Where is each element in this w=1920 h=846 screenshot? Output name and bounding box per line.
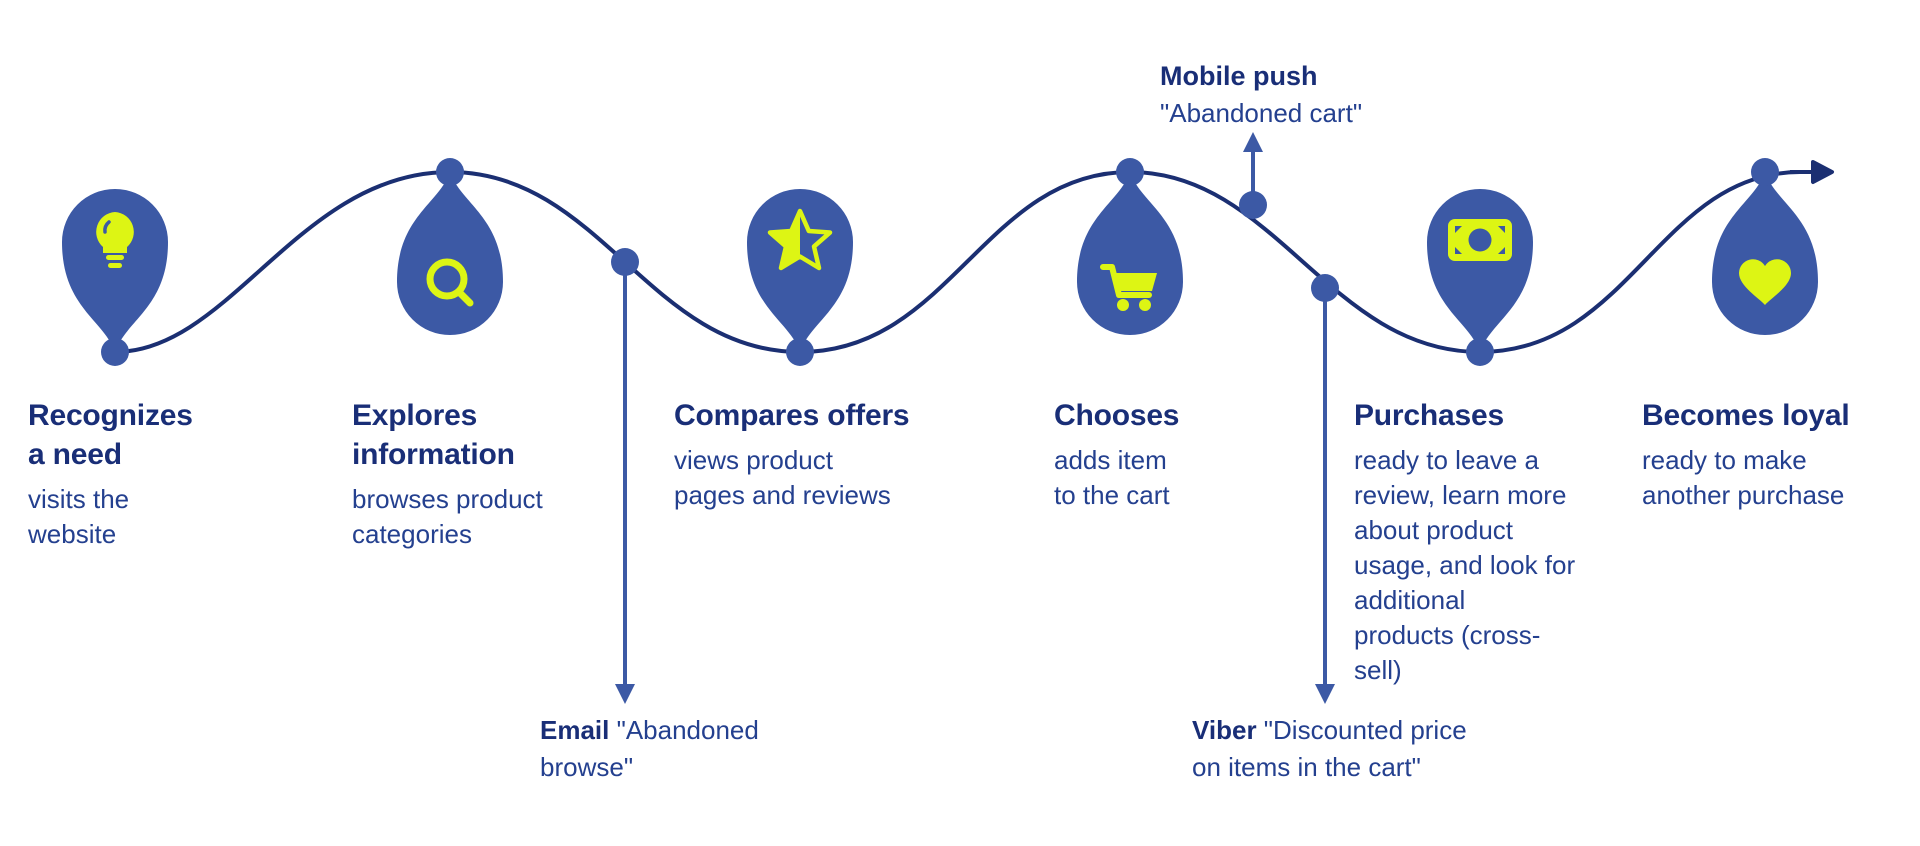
- customer-journey-diagram: Recognizes a need visits the website Exp…: [0, 0, 1920, 846]
- stage-title: Compares offers: [674, 396, 964, 435]
- stage-title: Recognizes a need: [28, 396, 258, 474]
- stage-label-explores-information: Explores information browses product cat…: [352, 396, 602, 552]
- annotation-channel-label: Viber: [1192, 715, 1257, 745]
- stage-pin-explores-information[interactable]: [397, 172, 503, 335]
- annotation-message-line2: on items in the cart": [1192, 752, 1421, 782]
- stage-pin-chooses[interactable]: [1077, 172, 1183, 335]
- stage-label-purchases: Purchases ready to leave a review, learn…: [1354, 396, 1634, 688]
- annotation-email: Email "Abandonedbrowse": [540, 712, 870, 786]
- annotation-connector-viber: [1315, 288, 1335, 704]
- annotation-message: "Discounted price: [1257, 715, 1467, 745]
- node-dot[interactable]: [1466, 338, 1494, 366]
- stage-title: Explores information: [352, 396, 602, 474]
- node-dot[interactable]: [1116, 158, 1144, 186]
- stage-label-recognizes-a-need: Recognizes a need visits the website: [28, 396, 258, 552]
- node-dot[interactable]: [436, 158, 464, 186]
- arrow-down-icon: [1315, 684, 1335, 704]
- stage-title: Purchases: [1354, 396, 1634, 435]
- node-dot[interactable]: [101, 338, 129, 366]
- stage-pin-purchases[interactable]: [1427, 189, 1533, 352]
- arrow-up-icon: [1243, 132, 1263, 152]
- stage-description: adds item to the cart: [1054, 443, 1254, 513]
- node-dot[interactable]: [786, 338, 814, 366]
- stage-pin-compares-offers[interactable]: [747, 189, 853, 352]
- banknote-icon: [1448, 219, 1512, 261]
- stage-label-compares-offers: Compares offers views product pages and …: [674, 396, 964, 513]
- stage-title: Becomes loyal: [1642, 396, 1912, 435]
- node-dot[interactable]: [1751, 158, 1779, 186]
- annotation-message: "Abandoned: [609, 715, 758, 745]
- stage-description: visits the website: [28, 482, 258, 552]
- stage-description: browses product categories: [352, 482, 602, 552]
- stage-pin-becomes-loyal[interactable]: [1712, 172, 1818, 335]
- arrow-down-icon: [615, 684, 635, 704]
- annotation-connector-email: [615, 262, 635, 704]
- stage-title: Chooses: [1054, 396, 1254, 435]
- stage-description: ready to leave a review, learn more abou…: [1354, 443, 1634, 688]
- annotation-channel-label: Mobile push: [1160, 58, 1490, 95]
- stage-pin-recognizes-a-need[interactable]: [62, 189, 168, 352]
- stage-label-chooses: Chooses adds item to the cart: [1054, 396, 1254, 513]
- stage-description: ready to make another purchase: [1642, 443, 1912, 513]
- annotation-message: "Abandoned cart": [1160, 98, 1362, 128]
- annotation-viber: Viber "Discounted priceon items in the c…: [1192, 712, 1592, 786]
- stage-description: views product pages and reviews: [674, 443, 964, 513]
- journey-curve: [115, 162, 1832, 352]
- stage-label-becomes-loyal: Becomes loyal ready to make another purc…: [1642, 396, 1912, 513]
- annotation-mobile-push: Mobile push "Abandoned cart": [1160, 58, 1490, 132]
- annotation-channel-label: Email: [540, 715, 609, 745]
- annotation-message-line2: browse": [540, 752, 633, 782]
- curve-end-arrow-icon: [1790, 162, 1832, 182]
